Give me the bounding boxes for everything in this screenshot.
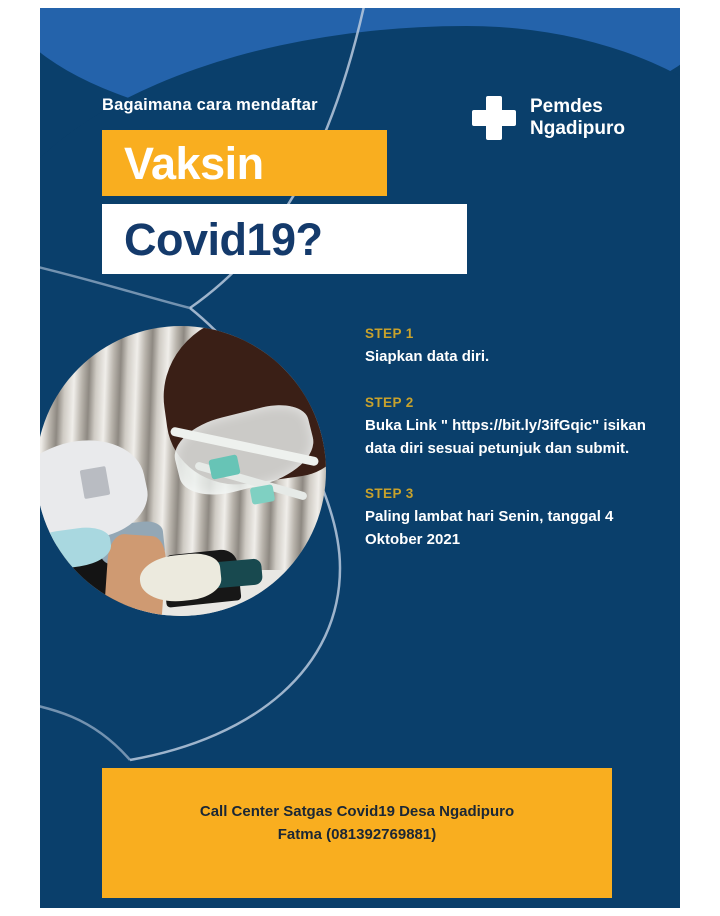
call-center-line-1: Call Center Satgas Covid19 Desa Ngadipur… bbox=[200, 803, 514, 820]
logo-line-1: Pemdes bbox=[530, 96, 603, 117]
call-center-line-2: Fatma (081392769881) bbox=[278, 826, 436, 843]
logo-text: Pemdes Ngadipuro bbox=[530, 96, 625, 141]
photo-shield-clip-2 bbox=[249, 484, 275, 505]
step-body-1: Siapkan data diri. bbox=[365, 346, 660, 369]
step-label-2: STEP 2 bbox=[365, 395, 660, 410]
photo-content bbox=[40, 326, 326, 616]
title-text-covid19: Covid19? bbox=[124, 217, 323, 262]
step-item-1: STEP 1 Siapkan data diri. bbox=[365, 326, 660, 369]
step-label-1: STEP 1 bbox=[365, 326, 660, 341]
photo-hat-tag bbox=[80, 466, 111, 499]
step-body-2: Buka Link " https://bit.ly/3ifGqic" isik… bbox=[365, 415, 660, 461]
title-box-vaksin: Vaksin bbox=[102, 130, 387, 196]
step-item-3: STEP 3 Paling lambat hari Senin, tanggal… bbox=[365, 486, 660, 552]
vaccination-photo bbox=[40, 326, 326, 616]
step-label-3: STEP 3 bbox=[365, 486, 660, 501]
title-text-vaksin: Vaksin bbox=[124, 141, 264, 186]
steps-list: STEP 1 Siapkan data diri. STEP 2 Buka Li… bbox=[365, 326, 660, 578]
poster-kicker: Bagaimana cara mendaftar bbox=[102, 96, 318, 115]
call-center-text: Call Center Satgas Covid19 Desa Ngadipur… bbox=[200, 800, 514, 847]
logo-line-2: Ngadipuro bbox=[530, 118, 625, 139]
medical-cross-icon bbox=[472, 96, 516, 140]
poster-canvas: Bagaimana cara mendaftar Vaksin Covid19?… bbox=[40, 8, 680, 908]
step-item-2: STEP 2 Buka Link " https://bit.ly/3ifGqi… bbox=[365, 395, 660, 461]
call-center-banner: Call Center Satgas Covid19 Desa Ngadipur… bbox=[102, 768, 612, 898]
organization-logo: Pemdes Ngadipuro bbox=[472, 96, 625, 141]
title-box-covid19: Covid19? bbox=[102, 204, 467, 274]
step-body-3: Paling lambat hari Senin, tanggal 4 Okto… bbox=[365, 506, 660, 552]
